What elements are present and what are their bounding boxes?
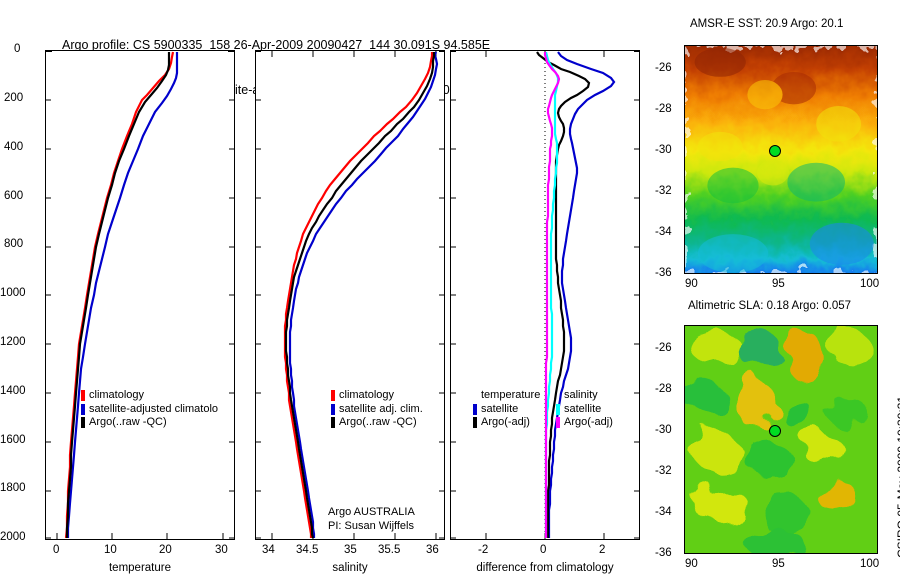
sla-argo-marker-layer <box>685 326 877 553</box>
salinity-axis-label: salinity <box>255 562 445 574</box>
legend-swatch-argo <box>81 417 85 428</box>
legend-label: Argo(..raw -QC) <box>89 416 167 430</box>
legend-swatch-none <box>473 390 477 401</box>
temperature-axis-label: temperature <box>45 562 235 574</box>
x-tick: 36 <box>426 544 439 556</box>
legend-label: satellite <box>564 403 601 417</box>
x-tick: 35 <box>344 544 357 556</box>
legend-label: Argo(-adj) <box>564 416 613 430</box>
x-tick: 0 <box>53 544 59 556</box>
y-tick: -28 <box>655 383 672 395</box>
x-tick: 100 <box>860 558 879 570</box>
y-tick: -28 <box>655 103 672 115</box>
legend-item: Argo(..raw -QC) <box>81 416 218 430</box>
y-tick: -30 <box>655 424 672 436</box>
legend-header: temperature <box>481 389 540 403</box>
legend-swatch-climatology <box>81 390 85 401</box>
x-tick: 95 <box>772 558 785 570</box>
salinity-satellite-line <box>290 52 437 538</box>
difference-legend-salinity: salinity satellite Argo(-adj) <box>556 389 613 430</box>
sst-map-panel <box>684 45 878 274</box>
temperature-legend: climatology satellite-adjusted climatolo… <box>81 389 218 430</box>
legend-header: salinity <box>564 389 598 403</box>
sla-map-title: Altimetric SLA: 0.18 Argo: 0.057 <box>688 300 851 312</box>
x-tick: 90 <box>685 278 698 290</box>
legend-swatch-climatology <box>331 390 335 401</box>
legend-label: Argo(..raw -QC) <box>339 416 417 430</box>
difference-temperature-satellite-line <box>549 52 614 538</box>
y-tick: -30 <box>655 144 672 156</box>
x-tick: 34 <box>262 544 275 556</box>
temperature-plot <box>46 51 234 539</box>
legend-label: Argo(-adj) <box>481 416 530 430</box>
legend-label: satellite-adjusted climatolo <box>89 403 218 417</box>
attribution-line-2: PI: Susan Wijffels <box>328 520 415 534</box>
legend-item: satellite-adjusted climatolo <box>81 403 218 417</box>
argo-position-marker <box>770 426 781 437</box>
argo-position-marker <box>770 146 781 157</box>
x-tick: 90 <box>685 558 698 570</box>
x-tick: 0 <box>540 544 546 556</box>
difference-axis-label: difference from climatology <box>440 562 650 574</box>
salinity-legend: climatology satellite adj. clim. Argo(..… <box>331 389 423 430</box>
y-tick: -26 <box>655 342 672 354</box>
temperature-climatology-line <box>66 52 173 538</box>
legend-label: satellite adj. clim. <box>339 403 423 417</box>
depth-tick: 0 <box>14 43 20 55</box>
salinity-climatology-line <box>285 52 432 538</box>
legend-swatch-salinity-argo <box>556 417 560 428</box>
y-tick: -32 <box>655 185 672 197</box>
difference-panel: temperature satellite Argo(-adj) salinit… <box>450 50 640 540</box>
sla-map-panel <box>684 325 878 554</box>
legend-item: Argo(-adj) <box>556 416 613 430</box>
legend-swatch-satellite <box>473 404 477 415</box>
legend-item: satellite <box>556 403 613 417</box>
attribution-line-1: Argo AUSTRALIA <box>328 506 415 520</box>
argo-attribution: Argo AUSTRALIA PI: Susan Wijffels <box>328 506 415 533</box>
legend-label: climatology <box>339 389 394 403</box>
x-tick: 2 <box>599 544 605 556</box>
x-tick: 30 <box>215 544 228 556</box>
depth-tick: 800 <box>4 238 23 250</box>
depth-tick: 1800 <box>0 482 26 494</box>
difference-legend-temperature: temperature satellite Argo(-adj) <box>473 389 540 430</box>
temperature-panel: climatology satellite-adjusted climatolo… <box>45 50 235 540</box>
depth-tick: 1400 <box>0 385 26 397</box>
csiro-credit: CSIRO 05-May-2009 10:30:31 <box>895 396 900 558</box>
depth-tick: 400 <box>4 141 23 153</box>
depth-tick: 600 <box>4 190 23 202</box>
legend-item: satellite adj. clim. <box>331 403 423 417</box>
temperature-argo-line <box>67 52 169 538</box>
legend-item: Argo(..raw -QC) <box>331 416 423 430</box>
legend-swatch-salinity-satellite <box>556 404 560 415</box>
x-tick: 20 <box>159 544 172 556</box>
depth-tick: 1200 <box>0 336 26 348</box>
salinity-ticks <box>256 51 444 539</box>
depth-tick: 1600 <box>0 434 26 446</box>
temperature-ticks <box>46 52 234 540</box>
legend-swatch-satellite <box>81 404 85 415</box>
y-tick: -34 <box>655 226 672 238</box>
depth-tick: 2000 <box>0 531 26 543</box>
legend-swatch-argo <box>473 417 477 428</box>
x-tick: 95 <box>772 278 785 290</box>
legend-item: climatology <box>81 389 218 403</box>
legend-item: satellite <box>473 403 540 417</box>
legend-swatch-argo <box>331 417 335 428</box>
y-tick: -26 <box>655 62 672 74</box>
salinity-argo-line <box>286 52 434 538</box>
x-tick: 35.5 <box>378 544 400 556</box>
x-tick: 34.5 <box>296 544 318 556</box>
legend-header-row: temperature <box>473 389 540 403</box>
sst-map-title: AMSR-E SST: 20.9 Argo: 20.1 <box>690 18 843 30</box>
salinity-panel: climatology satellite adj. clim. Argo(..… <box>255 50 445 540</box>
legend-label: climatology <box>89 389 144 403</box>
depth-tick: 200 <box>4 92 23 104</box>
temperature-satellite-line <box>68 52 177 538</box>
y-tick: -36 <box>655 547 672 559</box>
legend-label: satellite <box>481 403 518 417</box>
legend-item: Argo(-adj) <box>473 416 540 430</box>
sst-argo-marker-layer <box>685 46 877 273</box>
legend-swatch-satellite <box>331 404 335 415</box>
y-tick: -34 <box>655 506 672 518</box>
legend-swatch-none <box>556 390 560 401</box>
legend-header-row: salinity <box>556 389 613 403</box>
difference-plot <box>451 51 639 539</box>
x-tick: 100 <box>860 278 879 290</box>
salinity-plot <box>256 51 444 539</box>
legend-item: climatology <box>331 389 423 403</box>
y-tick: -32 <box>655 465 672 477</box>
y-tick: -36 <box>655 267 672 279</box>
depth-tick: 1000 <box>0 287 26 299</box>
x-tick: -2 <box>478 544 488 556</box>
x-tick: 10 <box>104 544 117 556</box>
